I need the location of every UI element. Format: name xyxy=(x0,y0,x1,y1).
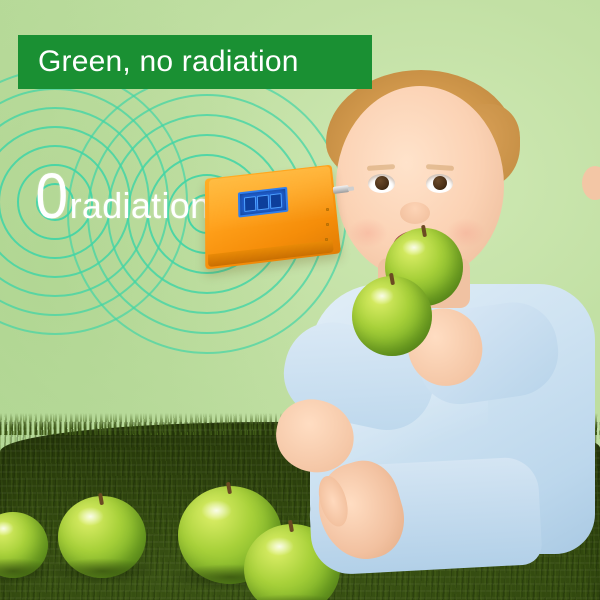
baby-nose xyxy=(400,202,430,224)
promo-banner-stage: 0 radiation Green, no radiation xyxy=(0,0,600,600)
lcd-segment xyxy=(270,193,283,209)
apple-shine xyxy=(370,287,394,305)
signal-wave-ring xyxy=(17,164,93,240)
baby-cheek-left xyxy=(348,218,388,248)
headline-banner: Green, no radiation xyxy=(18,35,372,89)
wordmark-zero: 0 xyxy=(35,168,67,226)
apple-icon-ground-2 xyxy=(58,496,146,578)
lcd-segment xyxy=(257,194,269,210)
signal-wave-ring xyxy=(0,107,150,297)
lcd-segment xyxy=(244,196,256,212)
booster-screw xyxy=(326,208,329,211)
baby-eye-left xyxy=(368,174,395,193)
apple-shine xyxy=(0,521,14,536)
apple-icon-held-lower xyxy=(352,276,432,356)
apple-shine xyxy=(77,507,103,525)
zero-radiation-wordmark: 0 radiation xyxy=(34,168,210,226)
booster-screw xyxy=(325,238,328,241)
signal-wave-ring xyxy=(0,126,131,278)
signal-wave-ring xyxy=(0,69,188,335)
wordmark-label: radiation xyxy=(70,188,211,224)
page-title: Green, no radiation xyxy=(38,45,299,79)
baby-eye-right xyxy=(426,174,453,193)
signal-wave-ring xyxy=(36,183,74,221)
apple-shine xyxy=(402,239,425,256)
baby-ear xyxy=(582,166,600,200)
signal-wave-ring xyxy=(0,145,112,259)
signal-booster-device xyxy=(205,168,337,262)
booster-screw xyxy=(326,223,329,226)
signal-wave-ring xyxy=(0,88,169,316)
apple-shine xyxy=(201,500,232,522)
apple-shadow xyxy=(49,558,155,584)
